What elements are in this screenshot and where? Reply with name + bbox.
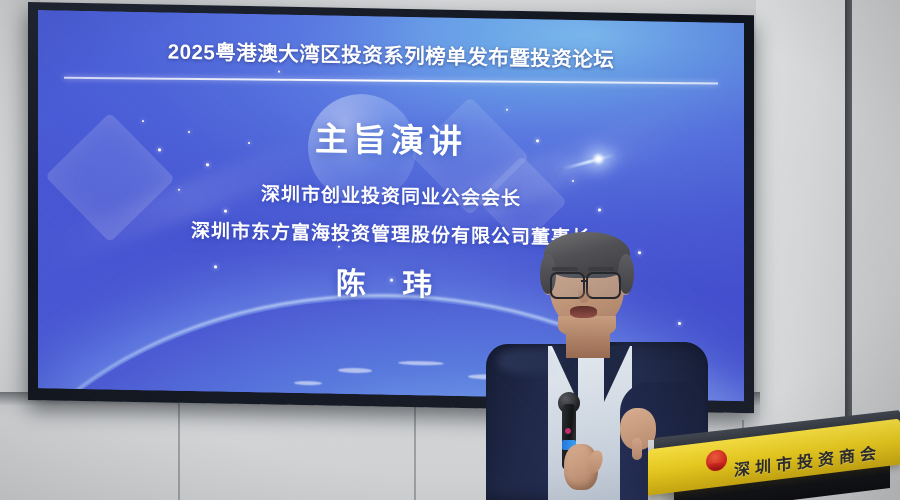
star-particle bbox=[278, 71, 280, 73]
star-particle bbox=[338, 246, 340, 248]
star-particle bbox=[506, 109, 508, 111]
finger-pointing bbox=[632, 438, 642, 460]
star-particle bbox=[572, 180, 574, 182]
microphone-indicator-light bbox=[565, 428, 571, 434]
mouth bbox=[570, 306, 597, 318]
wall-panel-seam bbox=[414, 404, 416, 500]
chin bbox=[558, 316, 616, 338]
wall-right-seam bbox=[845, 0, 852, 470]
shoulder-highlight bbox=[498, 348, 568, 374]
star-particle bbox=[224, 210, 227, 213]
conference-photo-scene: 2025粤港澳大湾区投资系列榜单发布暨投资论坛 主旨演讲 深圳市创业投资同业公会… bbox=[0, 0, 900, 500]
star-particle bbox=[206, 163, 209, 166]
eyebrow-right bbox=[588, 267, 614, 271]
wall-panel-seam bbox=[178, 402, 180, 500]
organization-emblem-icon bbox=[706, 449, 727, 473]
lectern-podium: 深圳市投资商会 bbox=[648, 424, 900, 500]
eyeglasses-bridge bbox=[581, 280, 588, 282]
nose bbox=[578, 286, 590, 303]
wall-right-column bbox=[756, 0, 848, 460]
eyeglasses-right-lens bbox=[586, 272, 621, 299]
eyebrow-left bbox=[552, 267, 578, 271]
emblem-base bbox=[708, 462, 725, 471]
